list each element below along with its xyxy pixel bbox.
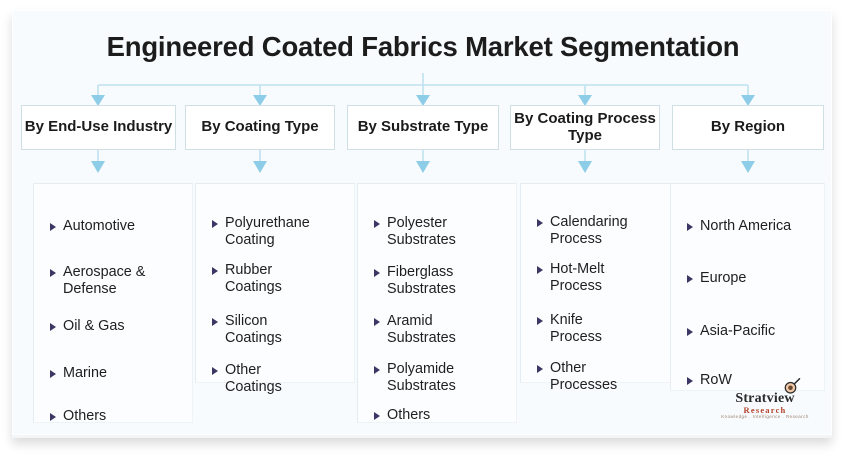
list-item-label: Polyamide Substrates	[387, 361, 456, 394]
bullet-arrow-icon	[374, 412, 380, 420]
list-item[interactable]: Asia-Pacific	[687, 323, 832, 340]
bullet-arrow-icon	[374, 318, 380, 326]
brand-logo[interactable]: Stratview Research Knowledge . Intellige…	[717, 380, 813, 424]
list-item[interactable]: Others	[50, 408, 195, 425]
list-item-label: Oil & Gas	[63, 318, 125, 335]
list-item-label: Others	[63, 408, 106, 425]
list-item-label: Others	[387, 407, 430, 424]
list-item-label: Other Coatings	[225, 362, 282, 395]
list-item[interactable]: Calendaring Process	[537, 214, 685, 247]
list-item[interactable]: Other Coatings	[212, 362, 360, 395]
list-item[interactable]: Fiberglass Substrates	[374, 264, 522, 297]
list-item-label: Marine	[63, 365, 107, 382]
list-item[interactable]: Europe	[687, 270, 832, 287]
segment-header-substrate-type[interactable]: By Substrate Type	[347, 105, 499, 150]
bullet-arrow-icon	[374, 220, 380, 228]
bullet-arrow-icon	[687, 377, 693, 385]
list-item[interactable]: Aramid Substrates	[374, 313, 522, 346]
infographic-canvas: Engineered Coated Fabrics Market Segment…	[0, 0, 844, 458]
list-item-label: Polyurethane Coating	[225, 215, 310, 248]
segment-header-end-use-industry[interactable]: By End-Use Industry	[21, 105, 176, 150]
list-item[interactable]: Polyester Substrates	[374, 215, 522, 248]
bullet-arrow-icon	[537, 266, 543, 274]
list-item[interactable]: Silicon Coatings	[212, 313, 360, 346]
list-item[interactable]: Automotive	[50, 218, 195, 235]
bullet-arrow-icon	[50, 269, 56, 277]
segment-header-coating-type[interactable]: By Coating Type	[185, 105, 335, 150]
bullet-arrow-icon	[374, 366, 380, 374]
list-item-label: Automotive	[63, 218, 135, 235]
list-item[interactable]: Polyamide Substrates	[374, 361, 522, 394]
bullet-arrow-icon	[374, 269, 380, 277]
bullet-arrow-icon	[212, 318, 218, 326]
list-item-label: Other Processes	[550, 360, 617, 393]
list-item[interactable]: Others	[374, 407, 522, 424]
segment-header-region[interactable]: By Region	[672, 105, 824, 150]
list-item-label: Rubber Coatings	[225, 262, 282, 295]
bullet-arrow-icon	[687, 328, 693, 336]
list-item-label: Asia-Pacific	[700, 323, 775, 340]
bullet-arrow-icon	[687, 223, 693, 231]
list-item[interactable]: Aerospace & Defense	[50, 264, 195, 297]
list-item-label: Europe	[700, 270, 746, 287]
list-item-label: Knife Process	[550, 312, 602, 345]
bullet-arrow-icon	[50, 323, 56, 331]
list-item[interactable]: Oil & Gas	[50, 318, 195, 335]
bullet-arrow-icon	[212, 367, 218, 375]
list-item-label: Aramid Substrates	[387, 313, 456, 346]
page-title: Engineered Coated Fabrics Market Segment…	[13, 31, 833, 63]
list-item-label: Hot-Melt Process	[550, 261, 604, 294]
bullet-arrow-icon	[537, 219, 543, 227]
segment-header-coating-process-type[interactable]: By Coating Process Type	[510, 105, 660, 150]
bullet-arrow-icon	[50, 413, 56, 421]
bullet-arrow-icon	[537, 365, 543, 373]
bullet-arrow-icon	[50, 370, 56, 378]
bullet-arrow-icon	[212, 267, 218, 275]
list-item[interactable]: Rubber Coatings	[212, 262, 360, 295]
list-item-label: Fiberglass Substrates	[387, 264, 456, 297]
bullet-arrow-icon	[50, 223, 56, 231]
list-item[interactable]: North America	[687, 218, 832, 235]
list-item[interactable]: Other Processes	[537, 360, 685, 393]
list-item[interactable]: Marine	[50, 365, 195, 382]
bullet-arrow-icon	[212, 220, 218, 228]
list-item-label: Calendaring Process	[550, 214, 628, 247]
segmentation-panel: Engineered Coated Fabrics Market Segment…	[12, 10, 832, 435]
logo-tagline: Knowledge . Intelligence . Research	[717, 414, 813, 419]
list-item[interactable]: Polyurethane Coating	[212, 215, 360, 248]
list-item-label: Silicon Coatings	[225, 313, 282, 346]
bullet-arrow-icon	[537, 317, 543, 325]
list-item-label: North America	[700, 218, 791, 235]
segment-list-region	[670, 183, 825, 391]
list-item-label: Aerospace & Defense	[63, 264, 145, 297]
bullet-arrow-icon	[687, 275, 693, 283]
list-item[interactable]: Hot-Melt Process	[537, 261, 685, 294]
list-item[interactable]: Knife Process	[537, 312, 685, 345]
list-item-label: Polyester Substrates	[387, 215, 456, 248]
